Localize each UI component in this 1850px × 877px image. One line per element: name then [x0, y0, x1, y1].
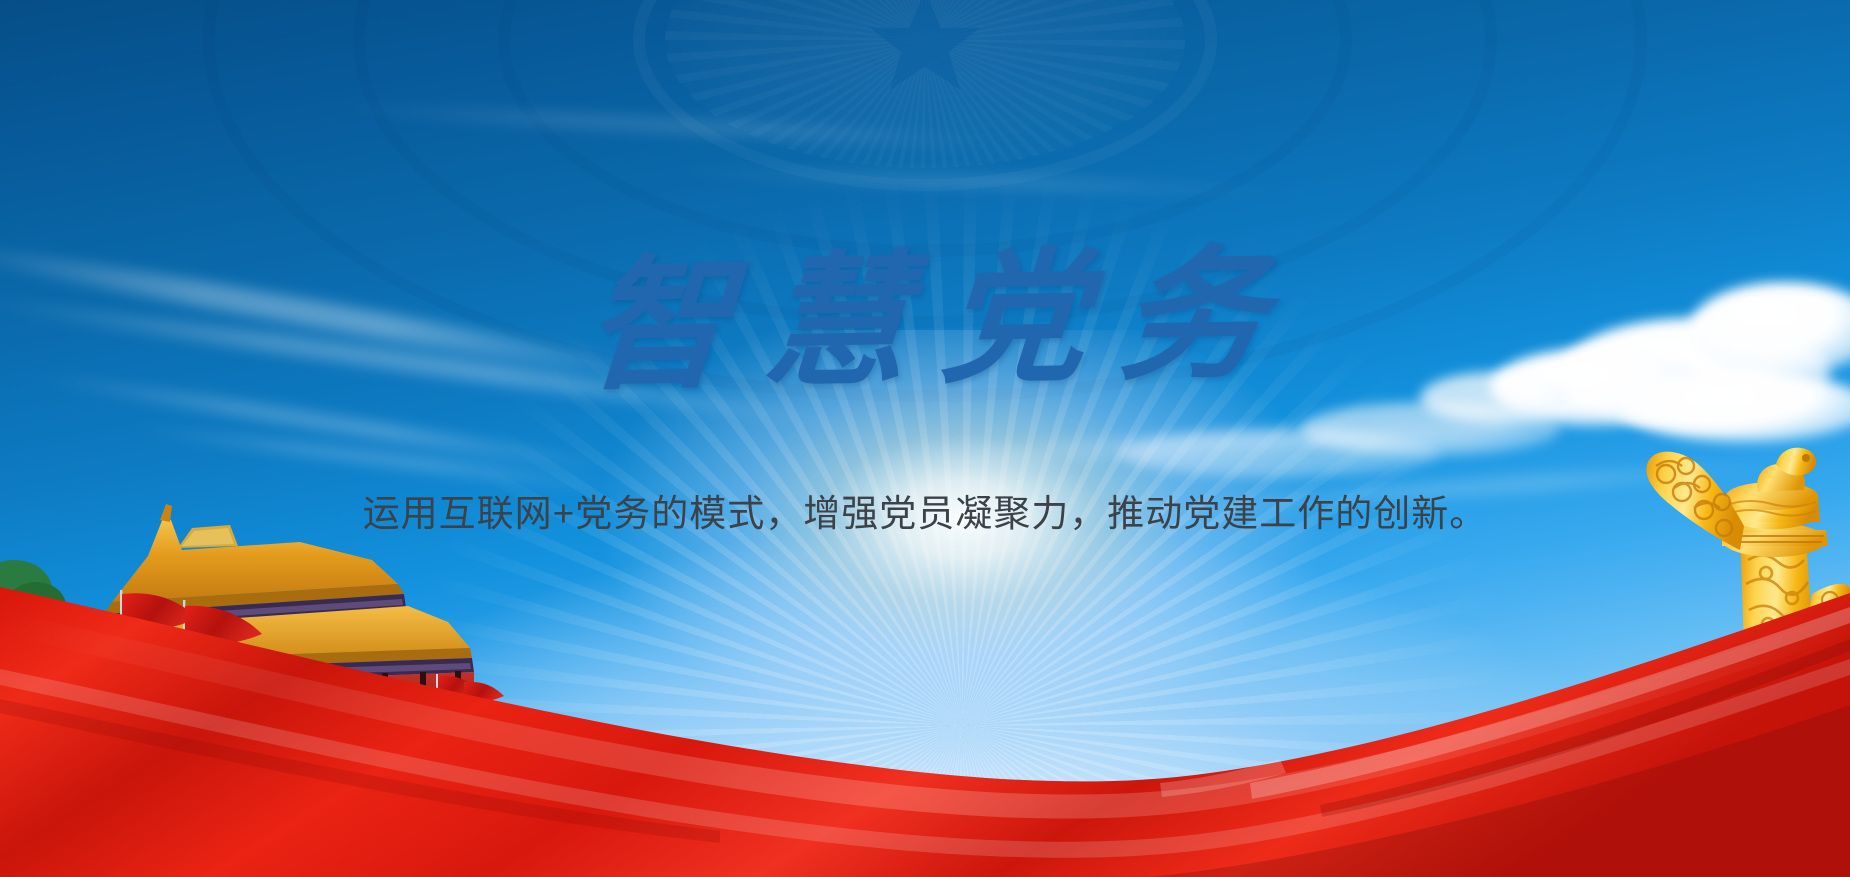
red-silk-ribbon	[0, 577, 1850, 877]
hero-banner: 智慧党务 运用互联网+党务的模式，增强党员凝聚力，推动党建工作的创新。	[0, 0, 1850, 877]
